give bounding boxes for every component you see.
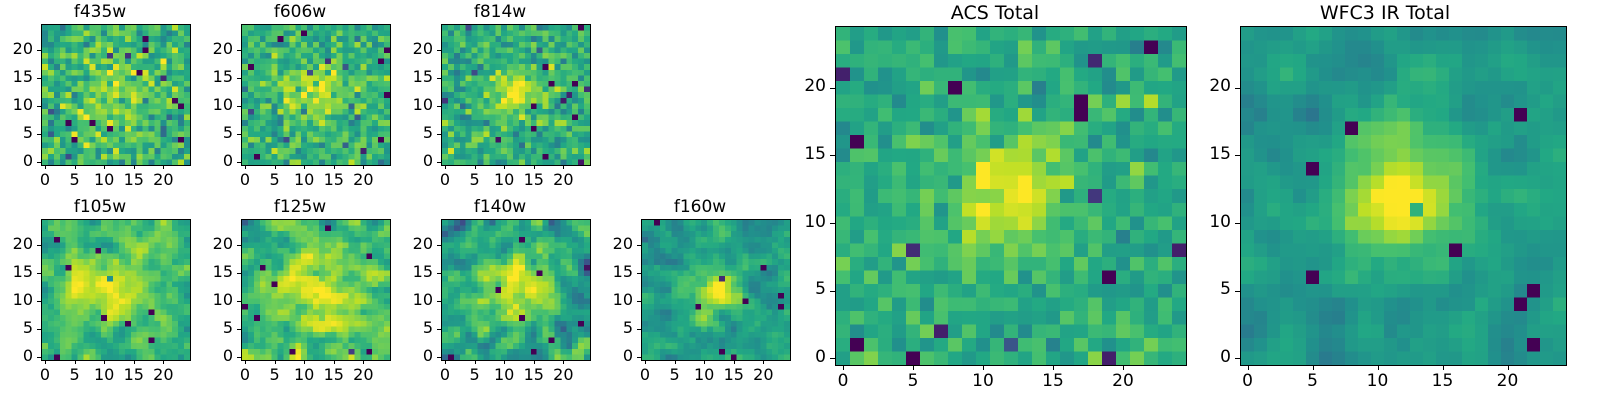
panel-empty-slot — [600, 0, 800, 190]
x-tick-label: 10 — [963, 373, 1003, 390]
y-tick-label: 0 — [591, 348, 633, 364]
heatmap-wfc3-ir-total — [1240, 26, 1567, 366]
x-tick-label: 20 — [143, 172, 183, 188]
x-tick-label: 10 — [1358, 373, 1398, 390]
panel-title: ACS Total — [800, 4, 1190, 23]
heatmap-raster — [642, 220, 790, 360]
x-tick-label: 0 — [1228, 373, 1268, 390]
x-tick-label: 20 — [343, 172, 383, 188]
y-tick-label: 20 — [391, 236, 433, 252]
x-tick — [275, 360, 276, 364]
x-tick — [445, 360, 446, 364]
x-tick — [163, 360, 164, 364]
x-tick — [1313, 365, 1314, 370]
x-tick — [983, 365, 984, 370]
x-tick — [104, 165, 105, 169]
y-tick — [1235, 358, 1240, 359]
x-tick — [104, 360, 105, 364]
panel-f140w: f140w 0510152005101520 — [400, 195, 600, 385]
y-tick-label: 20 — [1189, 78, 1231, 95]
y-tick — [437, 329, 441, 330]
x-tick — [134, 360, 135, 364]
y-tick-label: 15 — [191, 264, 233, 280]
y-tick-label: 0 — [0, 153, 33, 169]
x-tick — [534, 165, 535, 169]
x-tick — [913, 365, 914, 370]
x-tick — [475, 360, 476, 364]
y-tick — [830, 358, 835, 359]
y-tick-label: 5 — [0, 125, 33, 141]
y-tick — [637, 301, 641, 302]
y-tick-label: 20 — [191, 41, 233, 57]
y-tick — [37, 134, 41, 135]
y-tick — [437, 78, 441, 79]
x-tick-label: 20 — [143, 367, 183, 383]
y-tick-label: 20 — [0, 236, 33, 252]
panel-f435w: f435w 0510152005101520 — [0, 0, 200, 190]
heatmap-raster — [1241, 27, 1566, 365]
y-tick-label: 10 — [784, 214, 826, 231]
y-tick-label: 15 — [784, 146, 826, 163]
heatmap-f606w — [241, 24, 391, 166]
x-tick-label: 20 — [743, 367, 783, 383]
x-tick — [304, 165, 305, 169]
y-tick — [437, 134, 441, 135]
x-tick — [245, 360, 246, 364]
y-tick — [237, 134, 241, 135]
y-tick-label: 10 — [191, 97, 233, 113]
y-tick-label: 5 — [391, 125, 433, 141]
y-tick-label: 20 — [0, 41, 33, 57]
heatmap-raster — [42, 220, 190, 360]
y-tick — [437, 273, 441, 274]
y-tick-label: 0 — [191, 153, 233, 169]
panel-title: f435w — [0, 4, 200, 21]
heatmap-f814w — [441, 24, 591, 166]
x-tick — [445, 165, 446, 169]
y-tick — [1235, 88, 1240, 89]
y-tick-label: 15 — [0, 69, 33, 85]
y-tick-label: 15 — [191, 69, 233, 85]
x-tick — [1248, 365, 1249, 370]
panel-f125w: f125w 0510152005101520 — [200, 195, 400, 385]
heatmap-raster — [442, 220, 590, 360]
y-tick-label: 10 — [391, 292, 433, 308]
y-tick-label: 0 — [191, 348, 233, 364]
y-tick-label: 10 — [1189, 214, 1231, 231]
y-tick — [1235, 291, 1240, 292]
y-tick — [37, 329, 41, 330]
x-tick — [163, 165, 164, 169]
x-tick — [734, 360, 735, 364]
y-tick — [37, 78, 41, 79]
panel-f105w: f105w 0510152005101520 — [0, 195, 200, 385]
x-tick — [334, 165, 335, 169]
x-tick — [1443, 365, 1444, 370]
heatmap-raster — [242, 25, 390, 165]
heatmap-raster — [42, 25, 190, 165]
y-tick-label: 5 — [191, 320, 233, 336]
x-tick — [763, 360, 764, 364]
y-tick — [237, 273, 241, 274]
y-tick — [37, 106, 41, 107]
x-tick — [304, 360, 305, 364]
y-tick — [37, 357, 41, 358]
x-tick — [363, 165, 364, 169]
heatmap-f160w — [641, 219, 791, 361]
x-tick — [45, 165, 46, 169]
y-tick-label: 20 — [191, 236, 233, 252]
panel-title: f814w — [400, 4, 600, 21]
y-tick-label: 20 — [391, 41, 433, 57]
x-tick-label: 5 — [893, 373, 933, 390]
x-tick — [1123, 365, 1124, 370]
y-tick-label: 20 — [591, 236, 633, 252]
y-tick — [37, 273, 41, 274]
y-tick-label: 15 — [0, 264, 33, 280]
x-tick-label: 20 — [543, 172, 583, 188]
y-tick-label: 10 — [591, 292, 633, 308]
y-tick — [830, 155, 835, 156]
heatmap-f140w — [441, 219, 591, 361]
x-tick — [134, 165, 135, 169]
y-tick-label: 10 — [0, 97, 33, 113]
x-tick-label: 15 — [1423, 373, 1463, 390]
panel-f160w: f160w 0510152005101520 — [600, 195, 800, 385]
y-tick-label: 15 — [391, 69, 433, 85]
heatmap-f435w — [41, 24, 191, 166]
y-tick-label: 15 — [1189, 146, 1231, 163]
panel-title: f140w — [400, 199, 600, 216]
x-tick — [843, 365, 844, 370]
y-tick — [1235, 223, 1240, 224]
y-tick-label: 0 — [391, 348, 433, 364]
y-tick — [637, 245, 641, 246]
y-tick — [237, 106, 241, 107]
x-tick — [75, 360, 76, 364]
panel-title: f606w — [200, 4, 400, 21]
heatmap-f105w — [41, 219, 191, 361]
x-tick — [534, 360, 535, 364]
x-tick — [504, 360, 505, 364]
y-tick-label: 0 — [0, 348, 33, 364]
x-tick — [75, 165, 76, 169]
y-tick — [637, 357, 641, 358]
y-tick-label: 0 — [1189, 349, 1231, 366]
panel-acs-total: ACS Total 0510152005101520 — [800, 0, 1190, 400]
y-tick — [437, 245, 441, 246]
y-tick — [637, 329, 641, 330]
y-tick — [830, 88, 835, 89]
y-tick-label: 5 — [0, 320, 33, 336]
x-tick-label: 20 — [543, 367, 583, 383]
x-tick-label: 20 — [1488, 373, 1528, 390]
x-tick — [563, 360, 564, 364]
x-tick-label: 20 — [343, 367, 383, 383]
y-tick-label: 10 — [391, 97, 433, 113]
y-tick — [1235, 155, 1240, 156]
panel-f606w: f606w 0510152005101520 — [200, 0, 400, 190]
panel-title: f160w — [600, 199, 800, 216]
heatmap-f125w — [241, 219, 391, 361]
y-tick — [237, 162, 241, 163]
panel-title: f105w — [0, 199, 200, 216]
y-tick — [237, 50, 241, 51]
y-tick — [37, 50, 41, 51]
y-tick — [437, 162, 441, 163]
y-tick — [237, 301, 241, 302]
y-tick — [830, 223, 835, 224]
y-tick — [437, 357, 441, 358]
x-tick — [563, 165, 564, 169]
y-tick-label: 5 — [784, 281, 826, 298]
x-tick-label: 20 — [1103, 373, 1143, 390]
x-tick — [363, 360, 364, 364]
x-tick — [704, 360, 705, 364]
y-tick-label: 5 — [391, 320, 433, 336]
y-tick-label: 0 — [784, 349, 826, 366]
y-tick — [237, 357, 241, 358]
y-tick — [37, 245, 41, 246]
x-tick — [275, 165, 276, 169]
x-tick — [1508, 365, 1509, 370]
x-tick — [1053, 365, 1054, 370]
y-tick-label: 10 — [191, 292, 233, 308]
y-tick-label: 5 — [591, 320, 633, 336]
heatmap-raster — [242, 220, 390, 360]
y-tick — [37, 301, 41, 302]
x-tick-label: 0 — [823, 373, 863, 390]
x-tick — [45, 360, 46, 364]
y-tick — [637, 273, 641, 274]
y-tick — [237, 78, 241, 79]
y-tick-label: 20 — [784, 78, 826, 95]
y-tick — [237, 245, 241, 246]
y-tick-label: 15 — [391, 264, 433, 280]
x-tick — [1378, 365, 1379, 370]
y-tick-label: 5 — [191, 125, 233, 141]
y-tick — [830, 291, 835, 292]
y-tick-label: 10 — [0, 292, 33, 308]
panel-title: WFC3 IR Total — [1205, 4, 1565, 23]
x-tick — [504, 165, 505, 169]
y-tick — [237, 329, 241, 330]
y-tick — [37, 162, 41, 163]
x-tick — [475, 165, 476, 169]
heatmap-raster — [836, 27, 1186, 365]
panel-title: f125w — [200, 199, 400, 216]
x-tick — [675, 360, 676, 364]
y-tick-label: 15 — [591, 264, 633, 280]
panel-f814w: f814w 0510152005101520 — [400, 0, 600, 190]
y-tick — [437, 301, 441, 302]
multi-panel-cutout-figure: f435w 0510152005101520 f606w 05101520051… — [0, 0, 1600, 400]
heatmap-raster — [442, 25, 590, 165]
x-tick — [334, 360, 335, 364]
heatmap-acs-total — [835, 26, 1187, 366]
panel-wfc3-ir-total: WFC3 IR Total 0510152005101520 — [1205, 0, 1600, 400]
x-tick-label: 15 — [1033, 373, 1073, 390]
x-tick — [645, 360, 646, 364]
y-tick-label: 5 — [1189, 281, 1231, 298]
x-tick-label: 5 — [1293, 373, 1333, 390]
x-tick — [245, 165, 246, 169]
y-tick — [437, 106, 441, 107]
y-tick — [437, 50, 441, 51]
y-tick-label: 0 — [391, 153, 433, 169]
